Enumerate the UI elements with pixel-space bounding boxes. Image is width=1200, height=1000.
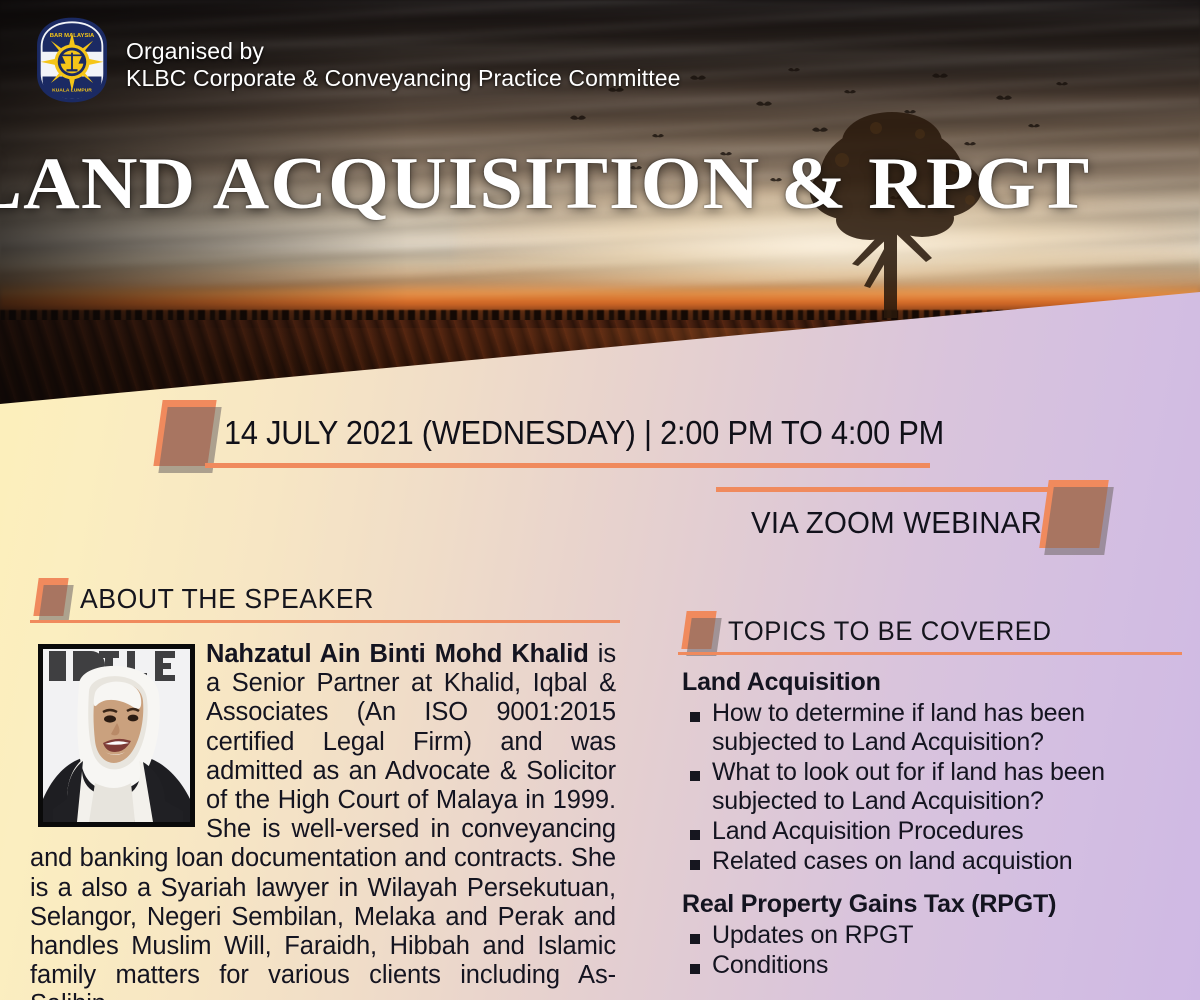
- event-platform: VIA ZOOM WEBINAR: [751, 505, 1036, 541]
- platform-rule: [716, 487, 1096, 492]
- topics-section-rule: [678, 652, 1182, 655]
- organiser-name: KLBC Corporate & Conveyancing Practice C…: [126, 65, 681, 92]
- topic-group: Real Property Gains Tax (RPGT) Updates o…: [682, 890, 1182, 980]
- speaker-section-rule: [30, 620, 620, 623]
- topic-list: How to determine if land has been subjec…: [682, 699, 1182, 876]
- topics-body: Land Acquisition How to determine if lan…: [682, 668, 1182, 994]
- topic-item: What to look out for if land has been su…: [682, 758, 1182, 816]
- bar-malaysia-logo-icon: BAR MALAYSIA KUALA LUMPUR: [26, 12, 118, 108]
- date-marker-tab: [153, 400, 216, 466]
- topic-group-title: Real Property Gains Tax (RPGT): [682, 890, 1182, 919]
- speaker-photo: [38, 644, 195, 827]
- topic-list: Updates on RPGT Conditions: [682, 921, 1182, 980]
- topic-item: Related cases on land acquistion: [682, 847, 1182, 876]
- event-date-time: 14 JULY 2021 (WEDNESDAY) | 2:00 PM TO 4:…: [224, 414, 944, 452]
- platform-marker-tab: [1039, 480, 1109, 548]
- topics-section-marker-tab: [681, 611, 716, 649]
- topic-item: Updates on RPGT: [682, 921, 1182, 950]
- speaker-portrait-image: [43, 649, 190, 822]
- logo-top-text: BAR MALAYSIA: [50, 33, 95, 39]
- organiser-block: Organised by KLBC Corporate & Conveyanci…: [126, 38, 681, 91]
- speaker-section-heading: ABOUT THE SPEAKER: [80, 583, 374, 615]
- topic-item: Land Acquisition Procedures: [682, 817, 1182, 846]
- logo-bottom-text: KUALA LUMPUR: [52, 87, 92, 93]
- topics-section-heading: TOPICS TO BE COVERED: [728, 616, 1052, 647]
- topic-group-title: Land Acquisition: [682, 668, 1182, 697]
- poster-title: LAND ACQUISITION & RPGT: [0, 142, 1092, 227]
- speaker-name: Nahzatul Ain Binti Mohd Khalid: [206, 640, 589, 668]
- topic-item: Conditions: [682, 951, 1182, 980]
- date-underline-rule: [205, 463, 930, 468]
- topic-group: Land Acquisition How to determine if lan…: [682, 668, 1182, 876]
- hero-banner: BAR MALAYSIA KUALA LUMPUR Organised by K…: [0, 0, 1200, 410]
- poster-canvas: BAR MALAYSIA KUALA LUMPUR Organised by K…: [0, 0, 1200, 1000]
- organised-by-label: Organised by: [126, 38, 681, 65]
- speaker-section-marker-tab: [33, 578, 68, 616]
- topic-item: How to determine if land has been subjec…: [682, 699, 1182, 757]
